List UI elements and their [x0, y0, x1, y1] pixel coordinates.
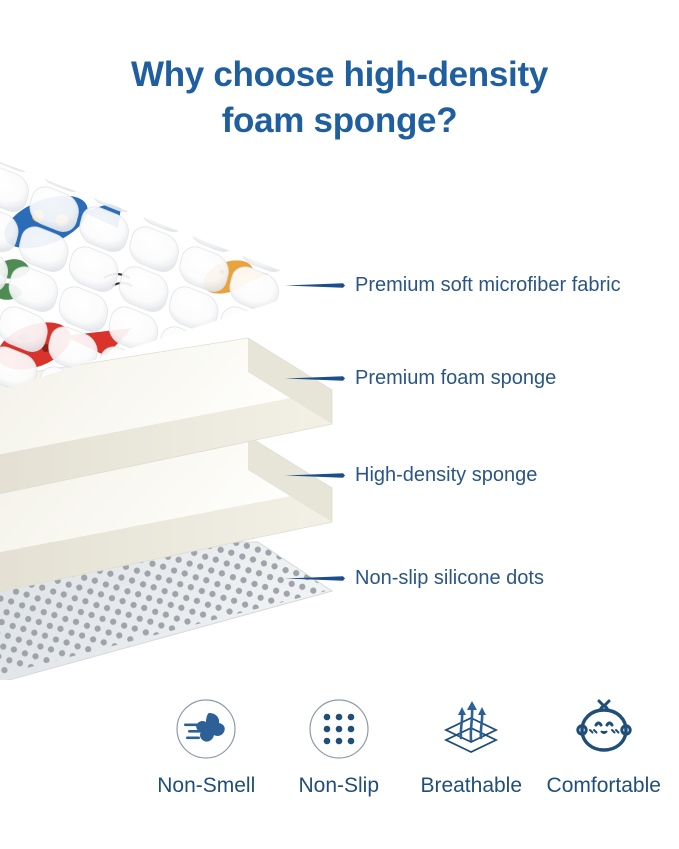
callout-label: Premium foam sponge — [355, 365, 556, 391]
wind-puff-icon — [175, 698, 237, 760]
callout-label: Non-slip silicone dots — [355, 565, 544, 591]
page-title-line2: foam sponge? — [0, 98, 679, 144]
baby-face-icon — [573, 698, 635, 760]
feature-comfortable: Comfortable — [538, 698, 671, 798]
leader-line-icon — [285, 473, 345, 478]
callout-label: Premium soft microfiber fabric — [355, 272, 621, 298]
leader-line-icon — [285, 283, 345, 288]
page-title: Why choose high-density foam sponge? — [0, 52, 679, 144]
infographic-page: Why choose high-density foam sponge? — [0, 0, 679, 849]
feature-label: Non-Smell — [157, 774, 255, 798]
leader-line-icon — [285, 376, 345, 381]
page-title-line1: Why choose high-density — [131, 55, 548, 94]
feature-label: Breathable — [420, 774, 522, 798]
callout-label: High-density sponge — [355, 462, 537, 488]
dot-grid-icon — [308, 698, 370, 760]
feature-non-slip: Non-Slip — [273, 698, 406, 798]
feature-row: Non-Smell Non-Slip — [140, 698, 670, 798]
feature-non-smell: Non-Smell — [140, 698, 273, 798]
feature-label: Non-Slip — [298, 774, 379, 798]
leader-line-icon — [285, 576, 345, 581]
airflow-layers-icon — [440, 698, 502, 760]
feature-breathable: Breathable — [405, 698, 538, 798]
mattress-layers-illustration — [0, 150, 340, 680]
feature-label: Comfortable — [547, 774, 661, 798]
